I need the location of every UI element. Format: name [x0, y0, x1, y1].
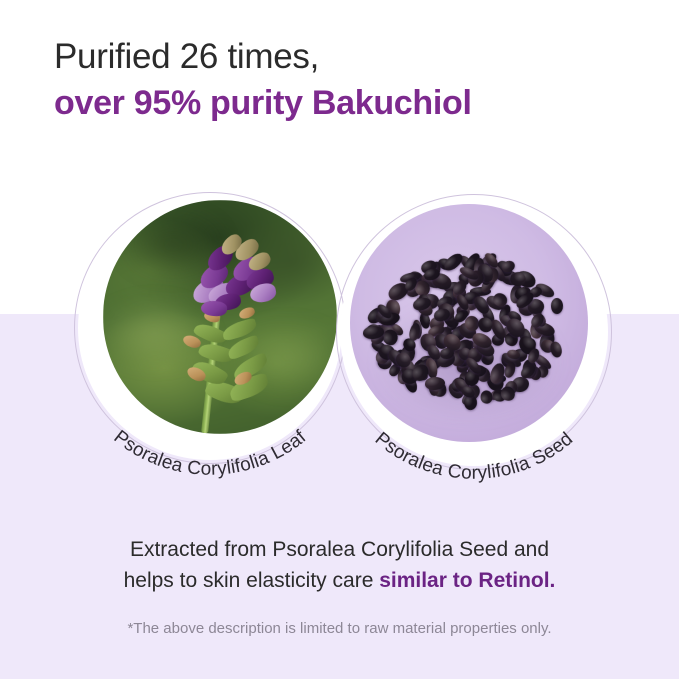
figure-leaf: Psoralea Corylifolia Leaf	[66, 184, 354, 472]
seed-caption-textpath: Psoralea Corylifolia Seed	[371, 428, 577, 483]
figure-seed: Psoralea Corylifolia Seed	[328, 186, 620, 478]
leaf-caption-textpath: Psoralea Corylifolia Leaf	[110, 426, 311, 479]
leaf-caption-text: Psoralea Corylifolia Leaf	[110, 426, 311, 479]
description-line-2-plain: helps to skin elasticity care	[124, 569, 380, 592]
headline-block: Purified 26 times, over 95% purity Bakuc…	[54, 36, 614, 124]
headline-line-2: over 95% purity Bakuchiol	[54, 82, 614, 124]
description-block: Extracted from Psoralea Corylifolia Seed…	[0, 534, 679, 596]
seed-caption-text: Psoralea Corylifolia Seed	[371, 428, 577, 483]
footnote: *The above description is limited to raw…	[0, 620, 679, 637]
headline-line-1: Purified 26 times,	[54, 36, 614, 77]
product-infographic: Purified 26 times, over 95% purity Bakuc…	[0, 0, 679, 679]
seed-caption-arc: Psoralea Corylifolia Seed	[324, 394, 624, 534]
description-accent: similar to Retinol.	[379, 569, 555, 592]
description-line-2: helps to skin elasticity care similar to…	[0, 565, 679, 596]
leaf-caption-arc: Psoralea Corylifolia Leaf	[60, 390, 360, 530]
description-line-1: Extracted from Psoralea Corylifolia Seed…	[0, 534, 679, 565]
